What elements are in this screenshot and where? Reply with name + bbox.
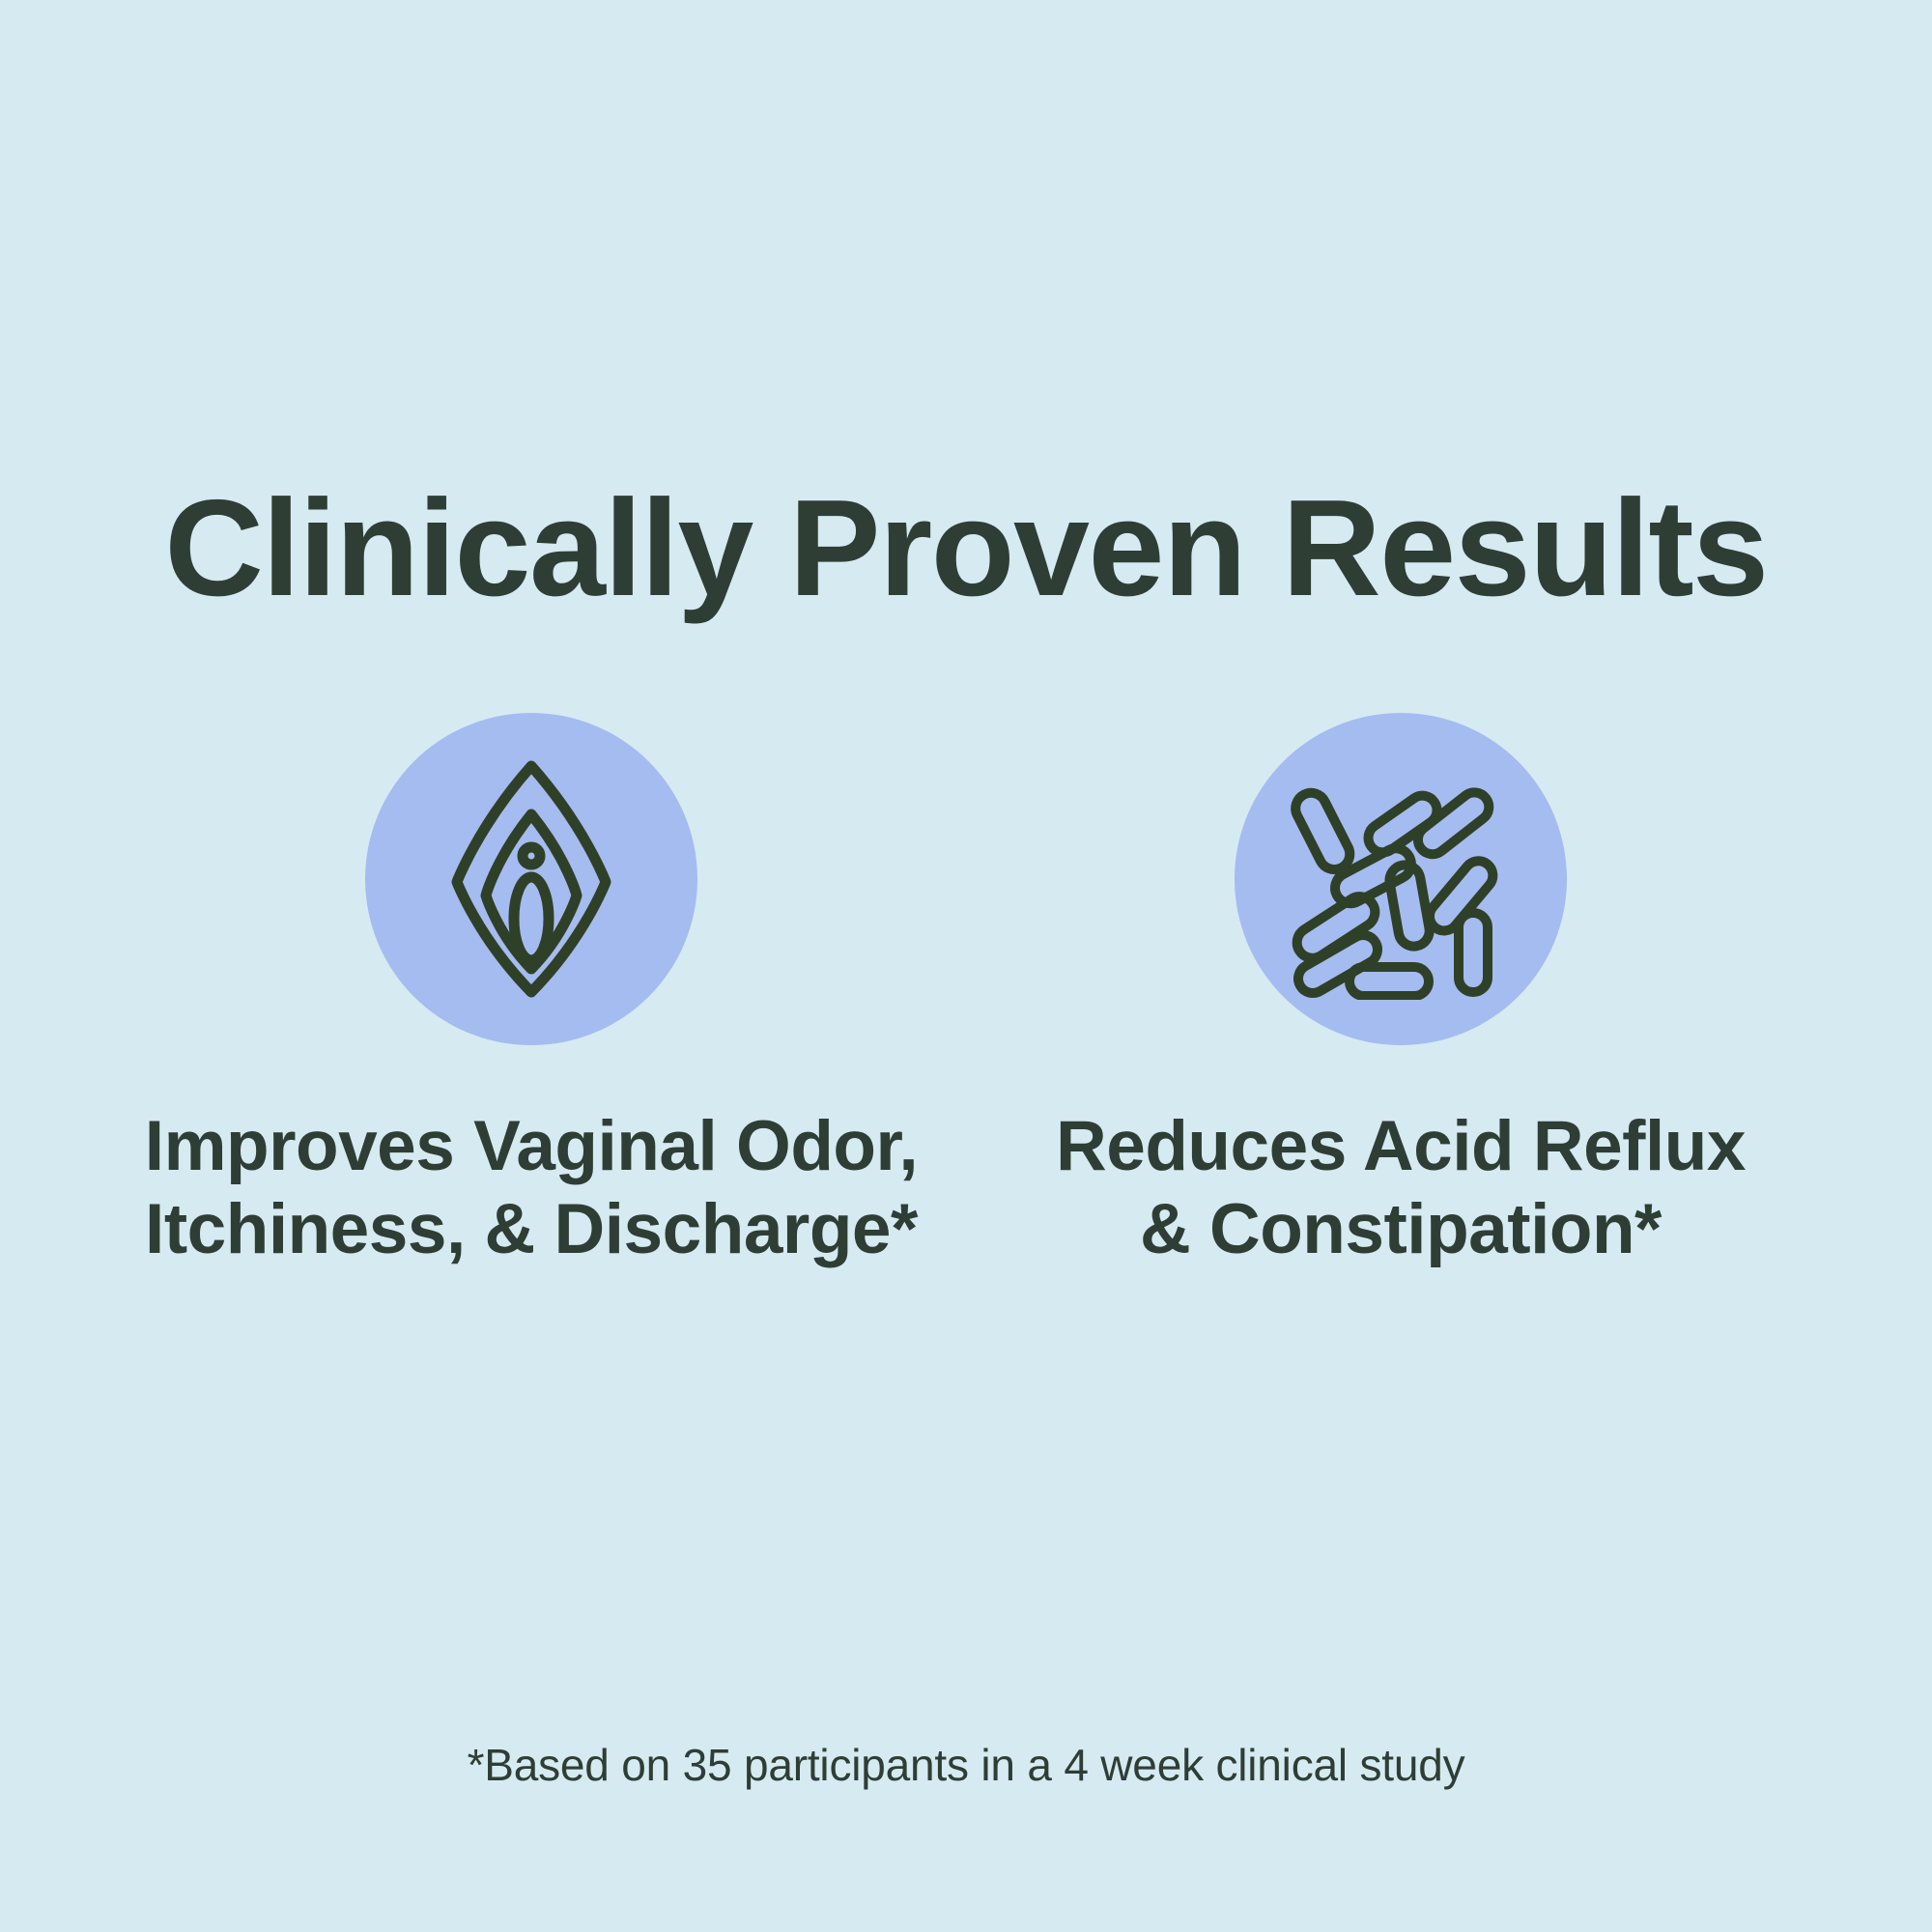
page-title: Clinically Proven Results bbox=[0, 480, 1932, 617]
vulva-icon-badge bbox=[365, 713, 697, 1045]
clinical-results-card: Clinically Proven Results bbox=[0, 0, 1932, 1932]
bacteria-probiotic-icon bbox=[1280, 758, 1521, 1000]
footnote-disclaimer: *Based on 35 participants in a 4 week cl… bbox=[0, 1739, 1932, 1792]
benefit-label-digestive-health: Reduces Acid Reflux & Constipation* bbox=[1056, 1105, 1746, 1271]
benefit-item-vaginal-health: Improves Vaginal Odor, Itchiness, & Disc… bbox=[97, 713, 966, 1271]
vulva-icon bbox=[420, 758, 642, 1000]
benefits-row: Improves Vaginal Odor, Itchiness, & Disc… bbox=[0, 713, 1932, 1271]
bacteria-icon-badge bbox=[1235, 713, 1567, 1045]
benefit-item-digestive-health: Reduces Acid Reflux & Constipation* bbox=[966, 713, 1835, 1271]
benefit-label-vaginal-health: Improves Vaginal Odor, Itchiness, & Disc… bbox=[145, 1105, 918, 1271]
